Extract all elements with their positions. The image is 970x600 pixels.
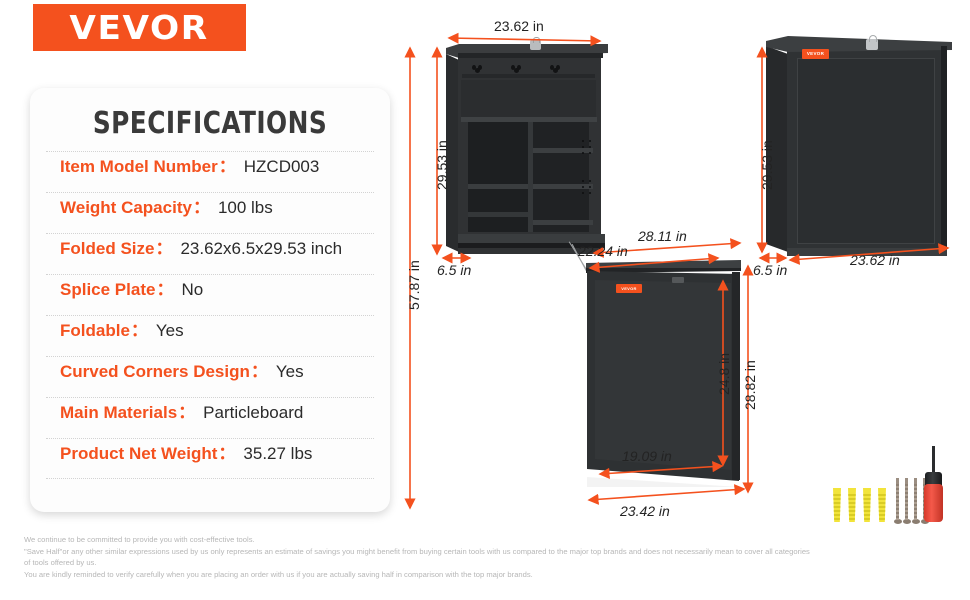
dim-desk-panel-height: 24.8 in: [716, 353, 732, 395]
disclaimer-text: We continue to be committed to provide y…: [24, 534, 954, 580]
dimension-arrows: [0, 0, 970, 600]
dim-cabinet-closed-width: 23.62 in: [850, 252, 900, 268]
dim-overall-height: 57.87 in: [406, 260, 422, 310]
dim-cabinet-open-depth: 6.5 in: [437, 262, 471, 278]
product-spec-infographic: VEVOR SPECIFICATIONS Item Model Number ：…: [0, 0, 970, 600]
dim-desk-inner-width: 19.09 in: [622, 448, 672, 464]
disclaimer-line-3: of tools offered by us.: [24, 557, 954, 569]
disclaimer-line-1: We continue to be committed to provide y…: [24, 534, 954, 546]
disclaimer-line-4: You are kindly reminded to verify carefu…: [24, 569, 954, 581]
dim-cabinet-open-width: 23.62 in: [494, 18, 544, 34]
dim-desk-outer-width: 23.42 in: [620, 503, 670, 519]
dim-desk-total-height: 28.82 in: [742, 360, 758, 410]
dim-cabinet-closed-depth: 6.5 in: [753, 262, 787, 278]
dim-cabinet-closed-height: 29.53 in: [759, 140, 775, 190]
dim-cabinet-open-height: 29.53 in: [434, 140, 450, 190]
dim-desk-top-back: 28.11 in: [638, 228, 687, 244]
disclaimer-line-2: "Save Half"or any other similar expressi…: [24, 546, 954, 558]
dim-desk-top-front: 22.24 in: [578, 243, 628, 259]
